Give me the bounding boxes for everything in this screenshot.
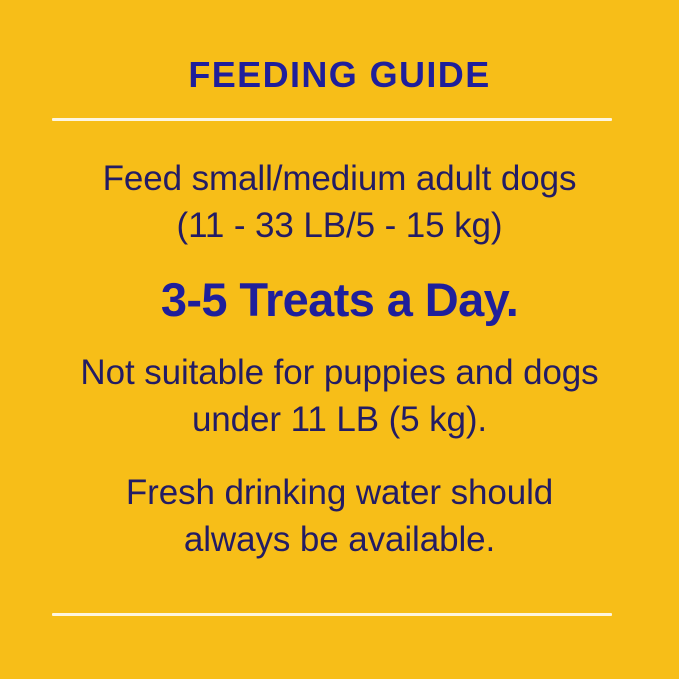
divider-top (52, 118, 612, 121)
treats-per-day-headline: 3-5 Treats a Day. (30, 271, 649, 329)
divider-bottom (52, 613, 612, 616)
feeding-guide-panel: FEEDING GUIDE Feed small/medium adult do… (0, 0, 679, 679)
spacer (30, 443, 649, 469)
intro-paragraph: Feed small/medium adult dogs (11 - 33 LB… (30, 155, 649, 249)
water-line-2: always be available. (30, 516, 649, 563)
water-paragraph: Fresh drinking water should always be av… (30, 469, 649, 563)
spacer (30, 249, 649, 271)
intro-line-1: Feed small/medium adult dogs (30, 155, 649, 202)
water-line-1: Fresh drinking water should (30, 469, 649, 516)
warning-line-2: under 11 LB (5 kg). (30, 396, 649, 443)
spacer (30, 329, 649, 349)
warning-paragraph: Not suitable for puppies and dogs under … (30, 349, 649, 443)
intro-line-2: (11 - 33 LB/5 - 15 kg) (30, 202, 649, 249)
warning-line-1: Not suitable for puppies and dogs (30, 349, 649, 396)
page-title: FEEDING GUIDE (0, 53, 679, 97)
feeding-guide-content: Feed small/medium adult dogs (11 - 33 LB… (30, 155, 649, 563)
